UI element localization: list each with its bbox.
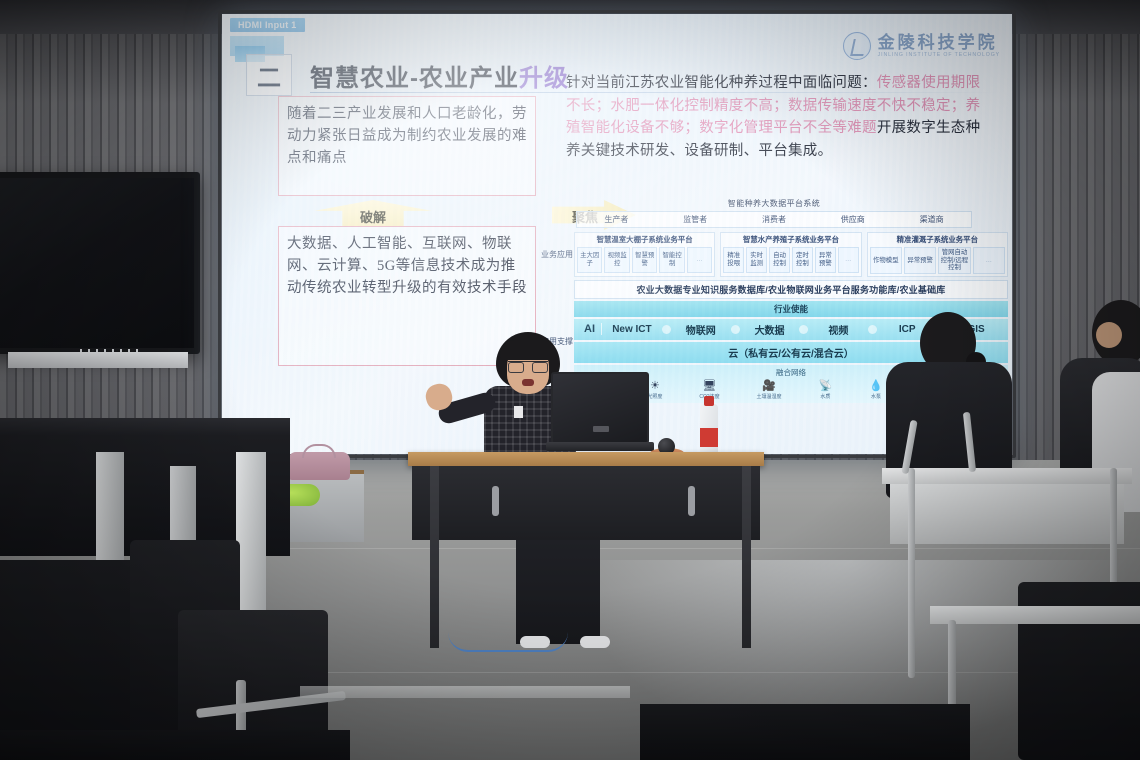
sensor-water-quality-icon: 📡 水质 — [819, 381, 833, 400]
platform-group-aquaculture: 智慧水产养殖子系统业务平台 精准投喂 实时监测 自动控制 定时控制 异常预警 … — [720, 232, 861, 277]
role-item: 消费者 — [762, 214, 786, 225]
platform-cell: 实时监测 — [746, 247, 767, 273]
platform-cell: 管网自动控制/远程控制 — [938, 247, 970, 274]
student-desk-top — [882, 468, 1132, 484]
left-text-box-1: 随着二三产业发展和人口老龄化，劳动力紧张日益成为制约农业发展的难点和痛点 — [278, 96, 536, 196]
row-label-business: 业务应用 — [540, 232, 574, 277]
platform-cell: 精准投喂 — [723, 247, 744, 273]
tech-item: 大数据 — [742, 322, 798, 337]
platform-cell: 视频监控 — [604, 247, 629, 273]
monitor-stand — [8, 352, 188, 368]
sensor-soil-icon: 🎥 土壤温湿度 — [757, 381, 782, 400]
drawer-handle[interactable] — [492, 486, 499, 516]
role-item: 供应商 — [841, 214, 865, 225]
lectern-desk-top — [408, 452, 764, 466]
presenter-legs — [516, 540, 600, 644]
slide-title-highlight: 升级 — [519, 65, 569, 92]
student-desk-front — [890, 484, 1124, 544]
platform-cell: … — [973, 247, 1005, 274]
tech-item: 视频 — [810, 322, 866, 337]
logo-emblem-icon — [843, 32, 871, 60]
stakeholder-bar: 生产者 监管者 消费者 供应商 渠道商 — [576, 211, 972, 228]
screenshot-root: HDMI Input 1 二 智慧农业-农业产业升级 金陵科技学院 JINLIN… — [0, 0, 1140, 760]
presenter-shoe — [580, 636, 610, 648]
platform-cell: 智慧预警 — [632, 247, 657, 273]
arrow-up-jiepo: 破解 — [314, 200, 432, 226]
tech-item: New ICT — [604, 324, 660, 335]
floor-cable — [448, 632, 568, 652]
foreground-student-desk — [930, 606, 1140, 624]
role-item: 渠道商 — [920, 214, 944, 225]
student-face — [1096, 322, 1122, 348]
hdmi-input-badge: HDMI Input 1 — [230, 18, 305, 32]
platform-head: 智慧温室大棚子系统业务平台 — [575, 233, 714, 246]
tech-item: 物联网 — [673, 322, 729, 337]
monitor-glass — [0, 178, 194, 348]
platform-cell: 异常预警 — [904, 247, 936, 274]
presenter-mouth — [522, 379, 534, 386]
platform-cell: 智能控制 — [659, 247, 684, 273]
platform-cell: 定时控制 — [792, 247, 813, 273]
slide-title: 智慧农业-农业产业升级 — [310, 58, 569, 93]
chapter-number: 二 — [246, 54, 292, 96]
logo-name-cn: 金陵科技学院 — [878, 34, 1000, 52]
platform-group-greenhouse: 智慧温室大棚子系统业务平台 主大因子 视频监控 智慧预警 智能控制 … — [574, 232, 715, 277]
secondary-monitor[interactable] — [0, 172, 200, 354]
database-bar: 农业大数据专业知识服务数据库/农业物联网业务平台服务功能库/农业基础库 — [574, 280, 1008, 299]
platform-cell: 作物模型 — [870, 247, 902, 274]
platform-cell: 异常预警 — [815, 247, 836, 273]
floor-trim — [300, 686, 630, 698]
tech-separator-dot-icon — [731, 325, 740, 334]
presenter-glasses — [508, 361, 548, 370]
desk-leg — [908, 468, 915, 678]
bottle-cap — [704, 396, 714, 406]
platform-cell: … — [838, 247, 859, 273]
presenter-fringe — [500, 340, 556, 360]
sensor-light-icon: ☀ 光照度 — [647, 381, 662, 400]
platform-head: 智慧水产养殖子系统业务平台 — [721, 233, 860, 246]
platform-head: 精准灌溉子系统业务平台 — [868, 233, 1007, 246]
platform-cell: … — [687, 247, 712, 273]
platform-cell: 主大因子 — [577, 247, 602, 273]
slide-title-main: 智慧农业-农业产业 — [310, 65, 519, 92]
right-paragraph: 针对当前江苏农业智能化种养过程中面临问题：传感器使用期限不长；水肥一体化控制精度… — [566, 72, 994, 162]
role-item: 生产者 — [604, 214, 628, 225]
laptop-keyboard[interactable] — [546, 442, 654, 451]
desk-leg — [742, 466, 751, 648]
foreground-desk-edge — [0, 730, 350, 760]
desk-leg — [430, 466, 439, 648]
arrow-up-label: 破解 — [314, 207, 432, 226]
platform-groups: 智慧温室大棚子系统业务平台 主大因子 视频监控 智慧预警 智能控制 … 智慧水产… — [574, 232, 1008, 277]
tech-separator-dot-icon — [662, 325, 671, 334]
platform-cell: 自动控制 — [769, 247, 790, 273]
logo-name-en: JINLING INSTITUTE OF TECHNOLOGY — [878, 52, 1000, 58]
business-application-row: 业务应用 智慧温室大棚子系统业务平台 主大因子 视频监控 智慧预警 智能控制 … — [540, 232, 1008, 277]
foreground-desk-edge — [640, 704, 970, 760]
drawer-handle[interactable] — [688, 486, 695, 516]
lectern-desk-front — [412, 466, 760, 540]
university-logo: 金陵科技学院 JINLING INSTITUTE OF TECHNOLOGY — [843, 32, 1000, 60]
bottle-label — [700, 428, 718, 447]
platform-group-irrigation: 精准灌溉子系统业务平台 作物模型 异常预警 管网自动控制/远程控制 … — [867, 232, 1008, 277]
presenter-badge — [514, 406, 523, 418]
laptop-screen[interactable] — [551, 372, 649, 444]
paragraph-lead: 针对当前江苏农业智能化种养过程中面临问题： — [566, 75, 877, 91]
tech-separator-dot-icon — [868, 325, 877, 334]
foreground-desk-top — [0, 418, 290, 438]
logo-wordmark: 金陵科技学院 JINLING INSTITUTE OF TECHNOLOGY — [878, 34, 1000, 58]
laptop-logo-icon — [593, 426, 609, 432]
actuator-pump-icon: 💧 水泵 — [869, 381, 883, 400]
diagram-title: 智能种养大数据平台系统 — [540, 198, 1008, 209]
tech-separator-dot-icon — [799, 325, 808, 334]
role-item: 监管者 — [683, 214, 707, 225]
